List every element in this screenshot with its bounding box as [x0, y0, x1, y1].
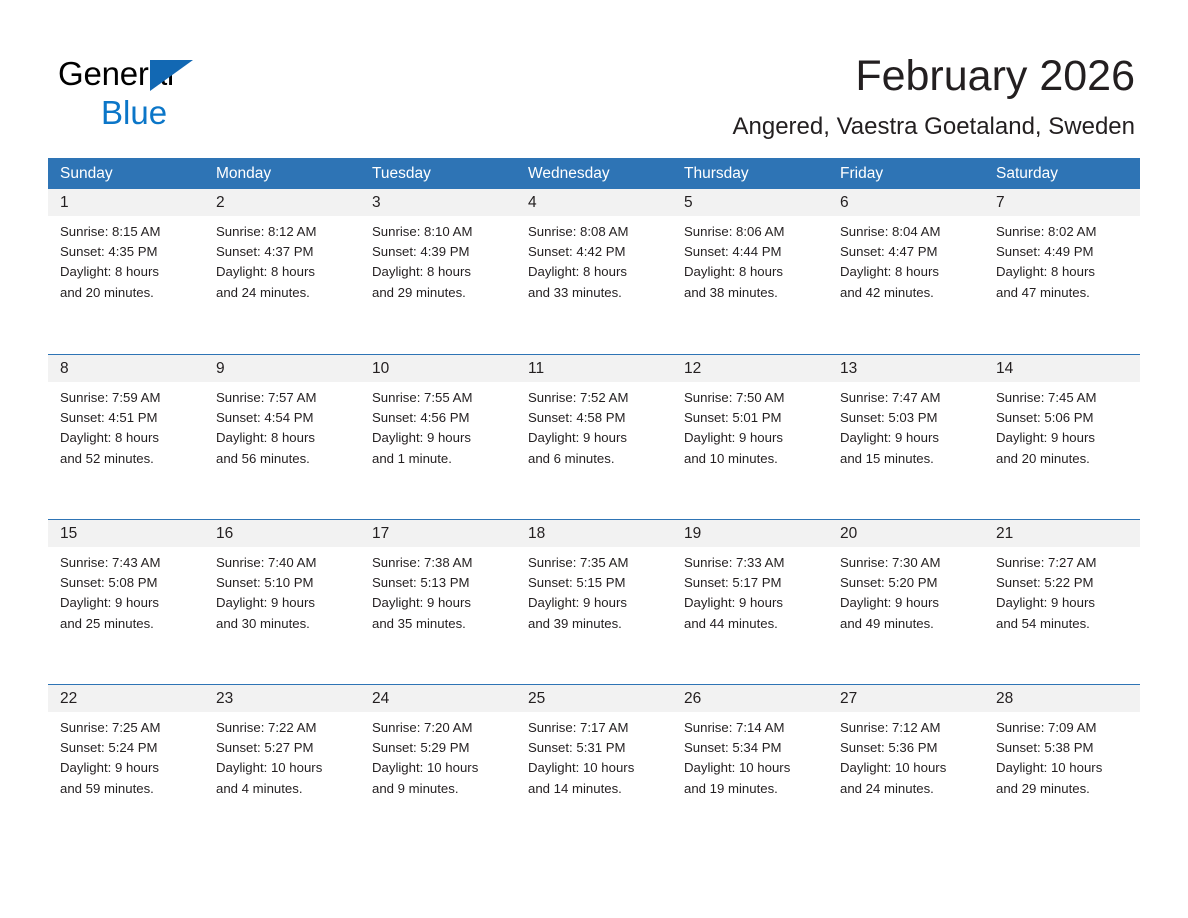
- daylight-text-line2: and 29 minutes.: [996, 779, 1130, 799]
- daylight-text-line2: and 33 minutes.: [528, 283, 662, 303]
- day-cell[interactable]: 1 Sunrise: 8:15 AM Sunset: 4:35 PM Dayli…: [48, 189, 204, 354]
- sunset-text: Sunset: 5:36 PM: [840, 738, 974, 758]
- day-number: 6: [840, 194, 849, 211]
- sunrise-text: Sunrise: 7:09 AM: [996, 718, 1130, 738]
- sunset-text: Sunset: 4:39 PM: [372, 242, 506, 262]
- day-cell[interactable]: 4 Sunrise: 8:08 AM Sunset: 4:42 PM Dayli…: [516, 189, 672, 354]
- daylight-text-line1: Daylight: 10 hours: [996, 758, 1130, 778]
- sunrise-text: Sunrise: 7:40 AM: [216, 553, 350, 573]
- sunset-text: Sunset: 5:01 PM: [684, 408, 818, 428]
- daylight-text-line2: and 35 minutes.: [372, 614, 506, 634]
- day-cell[interactable]: 27 Sunrise: 7:12 AM Sunset: 5:36 PM Dayl…: [828, 685, 984, 849]
- day-info: Sunrise: 8:02 AM Sunset: 4:49 PM Dayligh…: [984, 216, 1140, 303]
- sunrise-text: Sunrise: 7:52 AM: [528, 388, 662, 408]
- day-number: 28: [996, 690, 1013, 707]
- sunset-text: Sunset: 4:49 PM: [996, 242, 1130, 262]
- weekday-header-row: Sunday Monday Tuesday Wednesday Thursday…: [48, 158, 1140, 189]
- sunrise-text: Sunrise: 8:10 AM: [372, 222, 506, 242]
- day-info: Sunrise: 7:27 AM Sunset: 5:22 PM Dayligh…: [984, 547, 1140, 634]
- daylight-text-line1: Daylight: 9 hours: [840, 593, 974, 613]
- sunset-text: Sunset: 4:42 PM: [528, 242, 662, 262]
- week-row: 8 Sunrise: 7:59 AM Sunset: 4:51 PM Dayli…: [48, 354, 1140, 519]
- day-number-band: 7: [984, 189, 1140, 216]
- sunset-text: Sunset: 4:56 PM: [372, 408, 506, 428]
- daylight-text-line2: and 20 minutes.: [996, 449, 1130, 469]
- day-number-band: 24: [360, 685, 516, 712]
- day-info: Sunrise: 7:17 AM Sunset: 5:31 PM Dayligh…: [516, 712, 672, 799]
- sunrise-text: Sunrise: 7:30 AM: [840, 553, 974, 573]
- weekday-header-friday: Friday: [828, 158, 984, 189]
- day-number: 26: [684, 690, 701, 707]
- sunrise-text: Sunrise: 7:57 AM: [216, 388, 350, 408]
- day-info: Sunrise: 7:33 AM Sunset: 5:17 PM Dayligh…: [672, 547, 828, 634]
- day-cell[interactable]: 13 Sunrise: 7:47 AM Sunset: 5:03 PM Dayl…: [828, 355, 984, 519]
- day-cell[interactable]: 5 Sunrise: 8:06 AM Sunset: 4:44 PM Dayli…: [672, 189, 828, 354]
- daylight-text-line1: Daylight: 9 hours: [996, 593, 1130, 613]
- day-number-band: 8: [48, 355, 204, 382]
- day-number: 13: [840, 360, 857, 377]
- day-cell[interactable]: 18 Sunrise: 7:35 AM Sunset: 5:15 PM Dayl…: [516, 520, 672, 684]
- daylight-text-line1: Daylight: 9 hours: [60, 593, 194, 613]
- calendar-grid: Sunday Monday Tuesday Wednesday Thursday…: [48, 158, 1140, 849]
- daylight-text-line1: Daylight: 9 hours: [60, 758, 194, 778]
- sunset-text: Sunset: 5:27 PM: [216, 738, 350, 758]
- day-info: Sunrise: 7:30 AM Sunset: 5:20 PM Dayligh…: [828, 547, 984, 634]
- day-number-band: 2: [204, 189, 360, 216]
- sunrise-text: Sunrise: 7:38 AM: [372, 553, 506, 573]
- daylight-text-line2: and 39 minutes.: [528, 614, 662, 634]
- day-cell[interactable]: 26 Sunrise: 7:14 AM Sunset: 5:34 PM Dayl…: [672, 685, 828, 849]
- day-cell[interactable]: 20 Sunrise: 7:30 AM Sunset: 5:20 PM Dayl…: [828, 520, 984, 684]
- sunrise-text: Sunrise: 7:50 AM: [684, 388, 818, 408]
- daylight-text-line2: and 30 minutes.: [216, 614, 350, 634]
- sunrise-text: Sunrise: 7:27 AM: [996, 553, 1130, 573]
- daylight-text-line1: Daylight: 8 hours: [216, 428, 350, 448]
- sunset-text: Sunset: 5:20 PM: [840, 573, 974, 593]
- day-info: Sunrise: 7:45 AM Sunset: 5:06 PM Dayligh…: [984, 382, 1140, 469]
- daylight-text-line1: Daylight: 8 hours: [528, 262, 662, 282]
- day-cell[interactable]: 21 Sunrise: 7:27 AM Sunset: 5:22 PM Dayl…: [984, 520, 1140, 684]
- sunset-text: Sunset: 5:17 PM: [684, 573, 818, 593]
- day-number-band: 1: [48, 189, 204, 216]
- day-number-band: 23: [204, 685, 360, 712]
- day-number: 22: [60, 690, 77, 707]
- day-number: 4: [528, 194, 537, 211]
- daylight-text-line1: Daylight: 8 hours: [840, 262, 974, 282]
- day-number: 15: [60, 525, 77, 542]
- day-number: 24: [372, 690, 389, 707]
- weekday-header-saturday: Saturday: [984, 158, 1140, 189]
- day-number: 20: [840, 525, 857, 542]
- daylight-text-line2: and 52 minutes.: [60, 449, 194, 469]
- daylight-text-line2: and 14 minutes.: [528, 779, 662, 799]
- day-cell[interactable]: 24 Sunrise: 7:20 AM Sunset: 5:29 PM Dayl…: [360, 685, 516, 849]
- day-cell[interactable]: 28 Sunrise: 7:09 AM Sunset: 5:38 PM Dayl…: [984, 685, 1140, 849]
- daylight-text-line1: Daylight: 10 hours: [684, 758, 818, 778]
- sunrise-text: Sunrise: 7:43 AM: [60, 553, 194, 573]
- day-info: Sunrise: 7:12 AM Sunset: 5:36 PM Dayligh…: [828, 712, 984, 799]
- day-info: Sunrise: 7:52 AM Sunset: 4:58 PM Dayligh…: [516, 382, 672, 469]
- weekday-header-tuesday: Tuesday: [360, 158, 516, 189]
- day-info: Sunrise: 7:55 AM Sunset: 4:56 PM Dayligh…: [360, 382, 516, 469]
- daylight-text-line1: Daylight: 9 hours: [372, 428, 506, 448]
- day-number: 11: [528, 360, 544, 377]
- day-cell[interactable]: 17 Sunrise: 7:38 AM Sunset: 5:13 PM Dayl…: [360, 520, 516, 684]
- day-cell[interactable]: 10 Sunrise: 7:55 AM Sunset: 4:56 PM Dayl…: [360, 355, 516, 519]
- day-cell[interactable]: 12 Sunrise: 7:50 AM Sunset: 5:01 PM Dayl…: [672, 355, 828, 519]
- sunset-text: Sunset: 5:06 PM: [996, 408, 1130, 428]
- day-info: Sunrise: 8:08 AM Sunset: 4:42 PM Dayligh…: [516, 216, 672, 303]
- daylight-text-line2: and 4 minutes.: [216, 779, 350, 799]
- sunrise-text: Sunrise: 8:12 AM: [216, 222, 350, 242]
- daylight-text-line1: Daylight: 9 hours: [372, 593, 506, 613]
- day-number: 14: [996, 360, 1013, 377]
- day-number-band: 16: [204, 520, 360, 547]
- day-number: 16: [216, 525, 233, 542]
- day-number: 5: [684, 194, 693, 211]
- daylight-text-line1: Daylight: 8 hours: [372, 262, 506, 282]
- sunrise-text: Sunrise: 7:14 AM: [684, 718, 818, 738]
- day-number: 21: [996, 525, 1013, 542]
- day-cell[interactable]: 3 Sunrise: 8:10 AM Sunset: 4:39 PM Dayli…: [360, 189, 516, 354]
- daylight-text-line2: and 47 minutes.: [996, 283, 1130, 303]
- day-cell[interactable]: 2 Sunrise: 8:12 AM Sunset: 4:37 PM Dayli…: [204, 189, 360, 354]
- sunset-text: Sunset: 4:58 PM: [528, 408, 662, 428]
- day-cell[interactable]: 22 Sunrise: 7:25 AM Sunset: 5:24 PM Dayl…: [48, 685, 204, 849]
- day-number-band: 14: [984, 355, 1140, 382]
- day-info: Sunrise: 8:10 AM Sunset: 4:39 PM Dayligh…: [360, 216, 516, 303]
- sunset-text: Sunset: 4:51 PM: [60, 408, 194, 428]
- day-number-band: 12: [672, 355, 828, 382]
- sunrise-text: Sunrise: 8:04 AM: [840, 222, 974, 242]
- day-number: 23: [216, 690, 233, 707]
- daylight-text-line1: Daylight: 10 hours: [372, 758, 506, 778]
- sunset-text: Sunset: 5:31 PM: [528, 738, 662, 758]
- day-number-band: 28: [984, 685, 1140, 712]
- day-number: 19: [684, 525, 701, 542]
- sunrise-text: Sunrise: 8:08 AM: [528, 222, 662, 242]
- sunset-text: Sunset: 5:34 PM: [684, 738, 818, 758]
- day-number-band: 9: [204, 355, 360, 382]
- sunset-text: Sunset: 4:44 PM: [684, 242, 818, 262]
- daylight-text-line2: and 49 minutes.: [840, 614, 974, 634]
- day-info: Sunrise: 7:43 AM Sunset: 5:08 PM Dayligh…: [48, 547, 204, 634]
- sunrise-text: Sunrise: 7:47 AM: [840, 388, 974, 408]
- day-number-band: 22: [48, 685, 204, 712]
- sunrise-text: Sunrise: 8:06 AM: [684, 222, 818, 242]
- sunset-text: Sunset: 5:24 PM: [60, 738, 194, 758]
- day-info: Sunrise: 7:50 AM Sunset: 5:01 PM Dayligh…: [672, 382, 828, 469]
- daylight-text-line1: Daylight: 9 hours: [216, 593, 350, 613]
- logo-top-row: General: [58, 55, 318, 93]
- week-row: 15 Sunrise: 7:43 AM Sunset: 5:08 PM Dayl…: [48, 519, 1140, 684]
- sunset-text: Sunset: 5:13 PM: [372, 573, 506, 593]
- day-cell[interactable]: 25 Sunrise: 7:17 AM Sunset: 5:31 PM Dayl…: [516, 685, 672, 849]
- day-cell[interactable]: 6 Sunrise: 8:04 AM Sunset: 4:47 PM Dayli…: [828, 189, 984, 354]
- daylight-text-line2: and 1 minute.: [372, 449, 506, 469]
- daylight-text-line2: and 19 minutes.: [684, 779, 818, 799]
- day-number: 17: [372, 525, 389, 542]
- sunrise-text: Sunrise: 7:35 AM: [528, 553, 662, 573]
- day-info: Sunrise: 8:06 AM Sunset: 4:44 PM Dayligh…: [672, 216, 828, 303]
- day-number: 7: [996, 194, 1005, 211]
- day-number: 8: [60, 360, 69, 377]
- day-number: 9: [216, 360, 225, 377]
- day-info: Sunrise: 8:12 AM Sunset: 4:37 PM Dayligh…: [204, 216, 360, 303]
- day-number-band: 5: [672, 189, 828, 216]
- day-cell[interactable]: 19 Sunrise: 7:33 AM Sunset: 5:17 PM Dayl…: [672, 520, 828, 684]
- day-number-band: 15: [48, 520, 204, 547]
- sunrise-text: Sunrise: 7:17 AM: [528, 718, 662, 738]
- day-number-band: 25: [516, 685, 672, 712]
- day-number-band: 13: [828, 355, 984, 382]
- day-number-band: 11: [516, 355, 672, 382]
- day-cell[interactable]: 16 Sunrise: 7:40 AM Sunset: 5:10 PM Dayl…: [204, 520, 360, 684]
- day-info: Sunrise: 7:14 AM Sunset: 5:34 PM Dayligh…: [672, 712, 828, 799]
- daylight-text-line2: and 54 minutes.: [996, 614, 1130, 634]
- daylight-text-line1: Daylight: 8 hours: [684, 262, 818, 282]
- logo-triangle-icon: [150, 60, 193, 91]
- logo-text-blue: Blue: [58, 94, 318, 132]
- day-number-band: 4: [516, 189, 672, 216]
- sunset-text: Sunset: 5:15 PM: [528, 573, 662, 593]
- daylight-text-line1: Daylight: 10 hours: [216, 758, 350, 778]
- day-number-band: 6: [828, 189, 984, 216]
- daylight-text-line2: and 44 minutes.: [684, 614, 818, 634]
- sunrise-text: Sunrise: 8:15 AM: [60, 222, 194, 242]
- daylight-text-line1: Daylight: 9 hours: [840, 428, 974, 448]
- day-number: 18: [528, 525, 545, 542]
- day-number-band: 21: [984, 520, 1140, 547]
- day-cell[interactable]: 7 Sunrise: 8:02 AM Sunset: 4:49 PM Dayli…: [984, 189, 1140, 354]
- day-cell[interactable]: 8 Sunrise: 7:59 AM Sunset: 4:51 PM Dayli…: [48, 355, 204, 519]
- page-subtitle: Angered, Vaestra Goetaland, Sweden: [733, 112, 1136, 142]
- day-cell[interactable]: 15 Sunrise: 7:43 AM Sunset: 5:08 PM Dayl…: [48, 520, 204, 684]
- day-info: Sunrise: 7:35 AM Sunset: 5:15 PM Dayligh…: [516, 547, 672, 634]
- daylight-text-line1: Daylight: 9 hours: [996, 428, 1130, 448]
- sunrise-text: Sunrise: 7:25 AM: [60, 718, 194, 738]
- week-row: 1 Sunrise: 8:15 AM Sunset: 4:35 PM Dayli…: [48, 189, 1140, 354]
- daylight-text-line2: and 56 minutes.: [216, 449, 350, 469]
- day-number: 27: [840, 690, 857, 707]
- day-number: 2: [216, 194, 225, 211]
- page-title: February 2026: [733, 50, 1136, 102]
- daylight-text-line1: Daylight: 8 hours: [996, 262, 1130, 282]
- day-info: Sunrise: 7:47 AM Sunset: 5:03 PM Dayligh…: [828, 382, 984, 469]
- daylight-text-line2: and 38 minutes.: [684, 283, 818, 303]
- day-number-band: 18: [516, 520, 672, 547]
- daylight-text-line2: and 29 minutes.: [372, 283, 506, 303]
- day-cell[interactable]: 14 Sunrise: 7:45 AM Sunset: 5:06 PM Dayl…: [984, 355, 1140, 519]
- day-number: 10: [372, 360, 389, 377]
- daylight-text-line1: Daylight: 8 hours: [216, 262, 350, 282]
- page-header: General Blue February 2026 Angered, Vaes…: [0, 0, 1188, 150]
- weekday-header-wednesday: Wednesday: [516, 158, 672, 189]
- sunset-text: Sunset: 4:47 PM: [840, 242, 974, 262]
- day-number-band: 10: [360, 355, 516, 382]
- sunset-text: Sunset: 5:10 PM: [216, 573, 350, 593]
- day-number-band: 3: [360, 189, 516, 216]
- daylight-text-line2: and 10 minutes.: [684, 449, 818, 469]
- daylight-text-line2: and 42 minutes.: [840, 283, 974, 303]
- day-cell[interactable]: 23 Sunrise: 7:22 AM Sunset: 5:27 PM Dayl…: [204, 685, 360, 849]
- day-number-band: 26: [672, 685, 828, 712]
- day-cell[interactable]: 11 Sunrise: 7:52 AM Sunset: 4:58 PM Dayl…: [516, 355, 672, 519]
- daylight-text-line1: Daylight: 8 hours: [60, 428, 194, 448]
- sunrise-text: Sunrise: 7:59 AM: [60, 388, 194, 408]
- daylight-text-line2: and 24 minutes.: [216, 283, 350, 303]
- sunrise-text: Sunrise: 7:45 AM: [996, 388, 1130, 408]
- title-block: February 2026 Angered, Vaestra Goetaland…: [733, 50, 1136, 142]
- sunset-text: Sunset: 5:22 PM: [996, 573, 1130, 593]
- sunset-text: Sunset: 4:35 PM: [60, 242, 194, 262]
- week-row: 22 Sunrise: 7:25 AM Sunset: 5:24 PM Dayl…: [48, 684, 1140, 849]
- day-number: 1: [60, 194, 69, 211]
- day-cell[interactable]: 9 Sunrise: 7:57 AM Sunset: 4:54 PM Dayli…: [204, 355, 360, 519]
- sunset-text: Sunset: 4:37 PM: [216, 242, 350, 262]
- weekday-header-monday: Monday: [204, 158, 360, 189]
- day-number: 12: [684, 360, 701, 377]
- sunset-text: Sunset: 5:08 PM: [60, 573, 194, 593]
- day-info: Sunrise: 7:20 AM Sunset: 5:29 PM Dayligh…: [360, 712, 516, 799]
- day-number-band: 17: [360, 520, 516, 547]
- day-number-band: 19: [672, 520, 828, 547]
- sunrise-text: Sunrise: 8:02 AM: [996, 222, 1130, 242]
- day-info: Sunrise: 8:15 AM Sunset: 4:35 PM Dayligh…: [48, 216, 204, 303]
- sunrise-text: Sunrise: 7:20 AM: [372, 718, 506, 738]
- daylight-text-line2: and 59 minutes.: [60, 779, 194, 799]
- daylight-text-line1: Daylight: 10 hours: [840, 758, 974, 778]
- generalblue-logo: General Blue: [58, 55, 318, 135]
- daylight-text-line1: Daylight: 8 hours: [60, 262, 194, 282]
- daylight-text-line2: and 20 minutes.: [60, 283, 194, 303]
- day-number: 25: [528, 690, 545, 707]
- weekday-header-sunday: Sunday: [48, 158, 204, 189]
- day-info: Sunrise: 7:38 AM Sunset: 5:13 PM Dayligh…: [360, 547, 516, 634]
- daylight-text-line1: Daylight: 10 hours: [528, 758, 662, 778]
- calendar-page: General Blue February 2026 Angered, Vaes…: [0, 0, 1188, 918]
- sunrise-text: Sunrise: 7:22 AM: [216, 718, 350, 738]
- daylight-text-line1: Daylight: 9 hours: [528, 428, 662, 448]
- day-number-band: 27: [828, 685, 984, 712]
- daylight-text-line2: and 24 minutes.: [840, 779, 974, 799]
- daylight-text-line1: Daylight: 9 hours: [684, 593, 818, 613]
- day-number: 3: [372, 194, 381, 211]
- weekday-header-thursday: Thursday: [672, 158, 828, 189]
- daylight-text-line2: and 6 minutes.: [528, 449, 662, 469]
- daylight-text-line1: Daylight: 9 hours: [684, 428, 818, 448]
- sunset-text: Sunset: 5:38 PM: [996, 738, 1130, 758]
- day-info: Sunrise: 7:25 AM Sunset: 5:24 PM Dayligh…: [48, 712, 204, 799]
- daylight-text-line2: and 25 minutes.: [60, 614, 194, 634]
- day-info: Sunrise: 7:40 AM Sunset: 5:10 PM Dayligh…: [204, 547, 360, 634]
- sunrise-text: Sunrise: 7:55 AM: [372, 388, 506, 408]
- sunset-text: Sunset: 4:54 PM: [216, 408, 350, 428]
- sunset-text: Sunset: 5:03 PM: [840, 408, 974, 428]
- sunrise-text: Sunrise: 7:12 AM: [840, 718, 974, 738]
- day-info: Sunrise: 8:04 AM Sunset: 4:47 PM Dayligh…: [828, 216, 984, 303]
- sunrise-text: Sunrise: 7:33 AM: [684, 553, 818, 573]
- day-info: Sunrise: 7:22 AM Sunset: 5:27 PM Dayligh…: [204, 712, 360, 799]
- day-info: Sunrise: 7:59 AM Sunset: 4:51 PM Dayligh…: [48, 382, 204, 469]
- daylight-text-line2: and 15 minutes.: [840, 449, 974, 469]
- day-number-band: 20: [828, 520, 984, 547]
- daylight-text-line2: and 9 minutes.: [372, 779, 506, 799]
- day-info: Sunrise: 7:57 AM Sunset: 4:54 PM Dayligh…: [204, 382, 360, 469]
- day-info: Sunrise: 7:09 AM Sunset: 5:38 PM Dayligh…: [984, 712, 1140, 799]
- daylight-text-line1: Daylight: 9 hours: [528, 593, 662, 613]
- sunset-text: Sunset: 5:29 PM: [372, 738, 506, 758]
